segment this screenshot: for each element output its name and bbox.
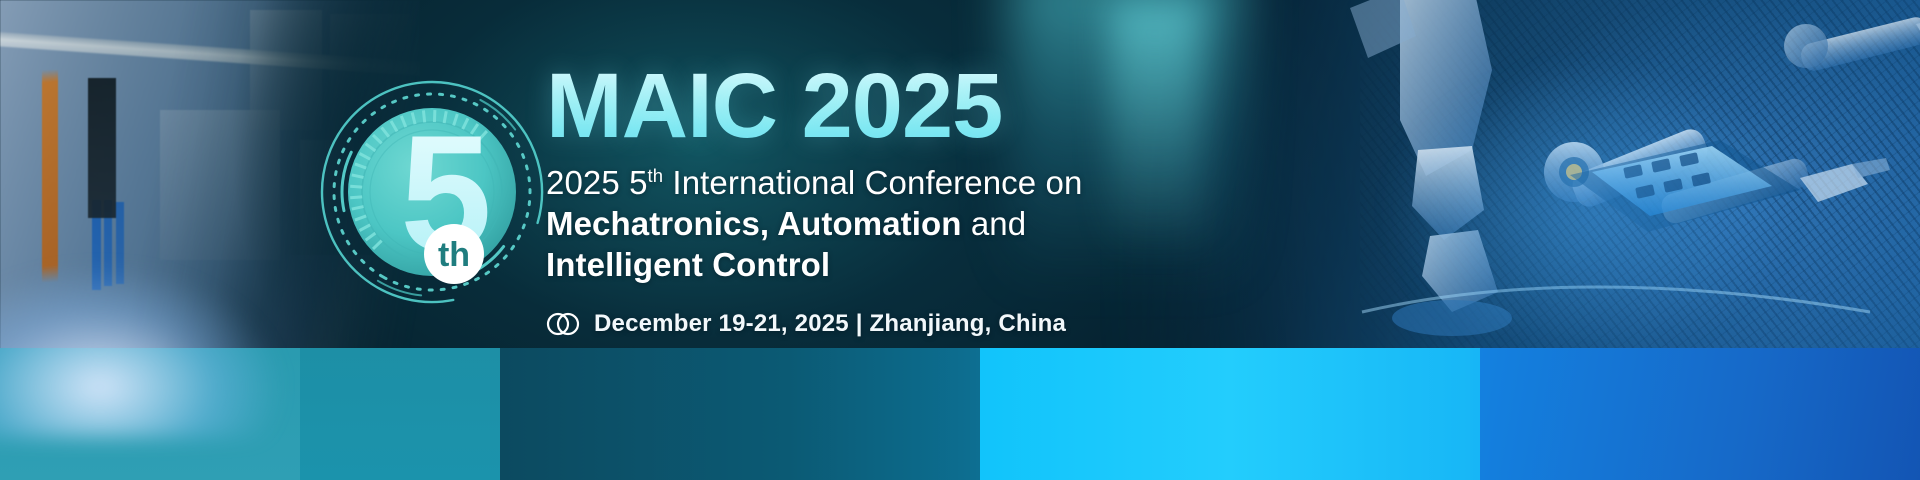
subtitle-conjunction: and	[962, 205, 1027, 242]
strip-segment-dark-teal	[500, 348, 980, 480]
interlocking-circles-icon	[546, 311, 580, 337]
subtitle-ordinal: th	[648, 165, 664, 186]
banner-text-block: MAIC 2025 2025 5th International Confere…	[546, 62, 1246, 338]
date-location-text: December 19-21, 2025 | Zhanjiang, China	[594, 310, 1066, 338]
strip-segment-cyan	[980, 348, 1480, 480]
subtitle-prefix: 2025 5	[546, 164, 648, 201]
subtitle-topics: Mechatronics, Automation	[546, 205, 962, 242]
bottom-color-strip	[0, 348, 1920, 480]
strip-segment-teal-dark	[300, 348, 500, 480]
subtitle-rest: International Conference on	[663, 164, 1082, 201]
strip-segment-blue	[1480, 348, 1920, 480]
fifth-anniversary-emblem: 5 th	[318, 78, 546, 306]
conference-subtitle-line-1: 2025 5th International Conference on	[546, 164, 1246, 202]
conference-banner: 5 th MAIC 2025 2025 5th International Co…	[0, 0, 1920, 480]
emblem-ordinal: th	[438, 236, 470, 274]
conference-subtitle-line-2: Mechatronics, Automation and	[546, 205, 1246, 243]
conference-subtitle-line-3: Intelligent Control	[546, 246, 1246, 284]
conference-title: MAIC 2025	[546, 62, 1246, 150]
date-location-row: December 19-21, 2025 | Zhanjiang, China	[546, 310, 1246, 338]
strip-light-flare	[0, 268, 280, 438]
blue-glow	[1380, 60, 1800, 360]
